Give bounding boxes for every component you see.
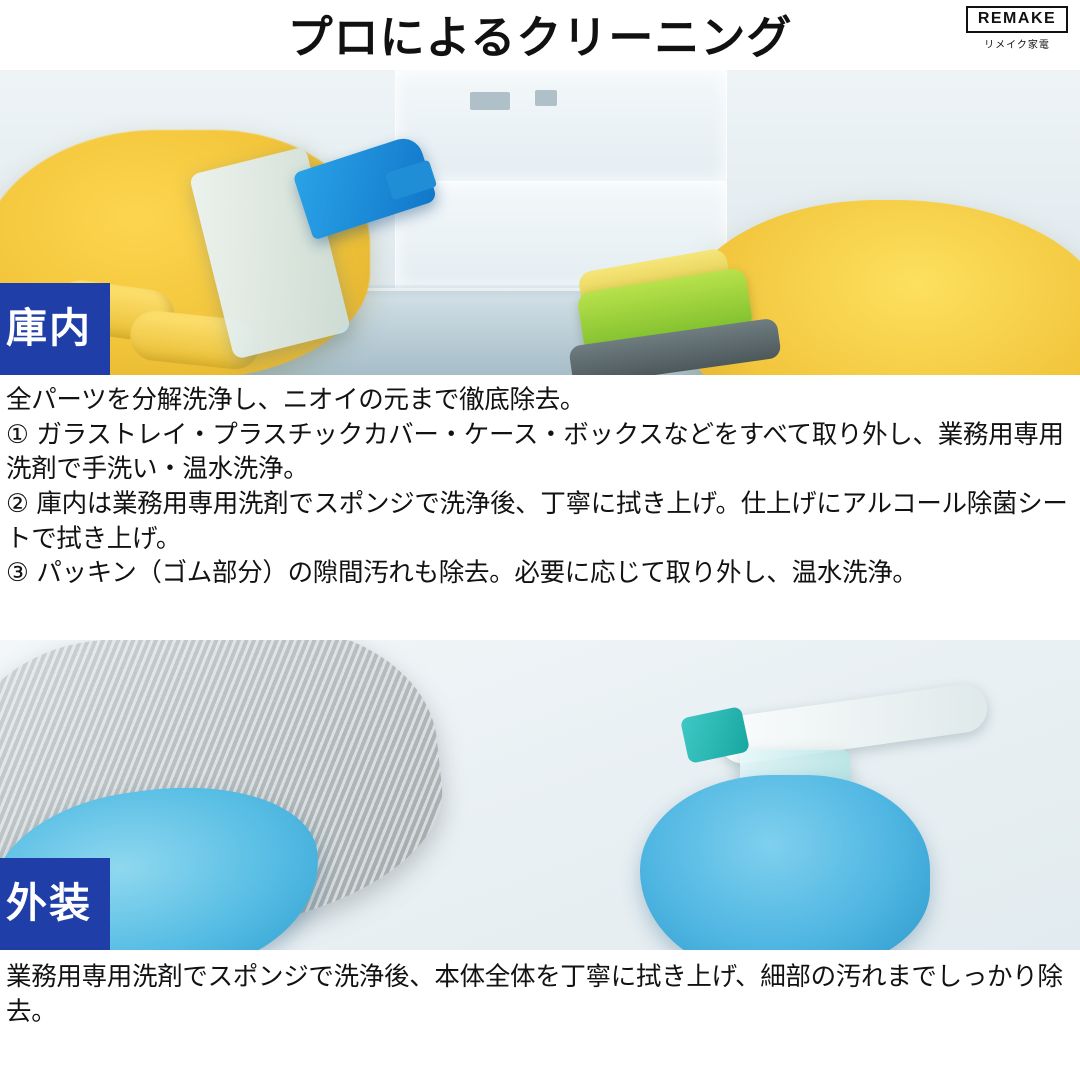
refrigerator-interior-cleaning-photo: 庫内 — [0, 70, 1080, 375]
interior-line-2: ① ガラストレイ・プラスチックカバー・ケース・ボックスなどをすべて取り外し、業務… — [6, 418, 1074, 487]
interior-line-3: ② 庫内は業務用専用洗剤でスポンジで洗浄後、丁寧に拭き上げ。仕上げにアルコール除… — [6, 487, 1074, 556]
fridge-panel — [395, 70, 727, 182]
page-title: プロによるクリーニング — [288, 15, 793, 60]
exterior-description: 業務用専用洗剤でスポンジで洗浄後、本体全体を丁寧に拭き上げ、細部の汚れまでしっか… — [0, 950, 1080, 1029]
interior-line-1: 全パーツを分解洗浄し、ニオイの元まで徹底除去。 — [6, 383, 1074, 418]
section-badge-interior: 庫内 — [0, 283, 110, 375]
interior-description: 全パーツを分解洗浄し、ニオイの元まで徹底除去。 ① ガラストレイ・プラスチックカ… — [0, 375, 1080, 640]
fridge-vent — [470, 92, 510, 110]
exterior-line-1: 業務用専用洗剤でスポンジで洗浄後、本体全体を丁寧に拭き上げ、細部の汚れまでしっか… — [6, 960, 1074, 1029]
blue-glove-right — [640, 775, 930, 950]
header: プロによるクリーニング REMAKE リメイク家電 — [0, 0, 1080, 70]
brand-logo-name: REMAKE — [966, 6, 1068, 33]
section-badge-exterior: 外装 — [0, 858, 110, 950]
interior-line-4: ③ パッキン（ゴム部分）の隙間汚れも除去。必要に応じて取り外し、温水洗浄。 — [6, 556, 1074, 591]
fridge-vent — [535, 90, 557, 106]
exterior-cleaning-photo: 外装 — [0, 640, 1080, 950]
brand-logo: REMAKE リメイク家電 — [966, 6, 1068, 51]
brand-logo-subtitle: リメイク家電 — [966, 36, 1068, 51]
poster-page: プロによるクリーニング REMAKE リメイク家電 庫内 全パーツを分解洗浄し、… — [0, 0, 1080, 1080]
